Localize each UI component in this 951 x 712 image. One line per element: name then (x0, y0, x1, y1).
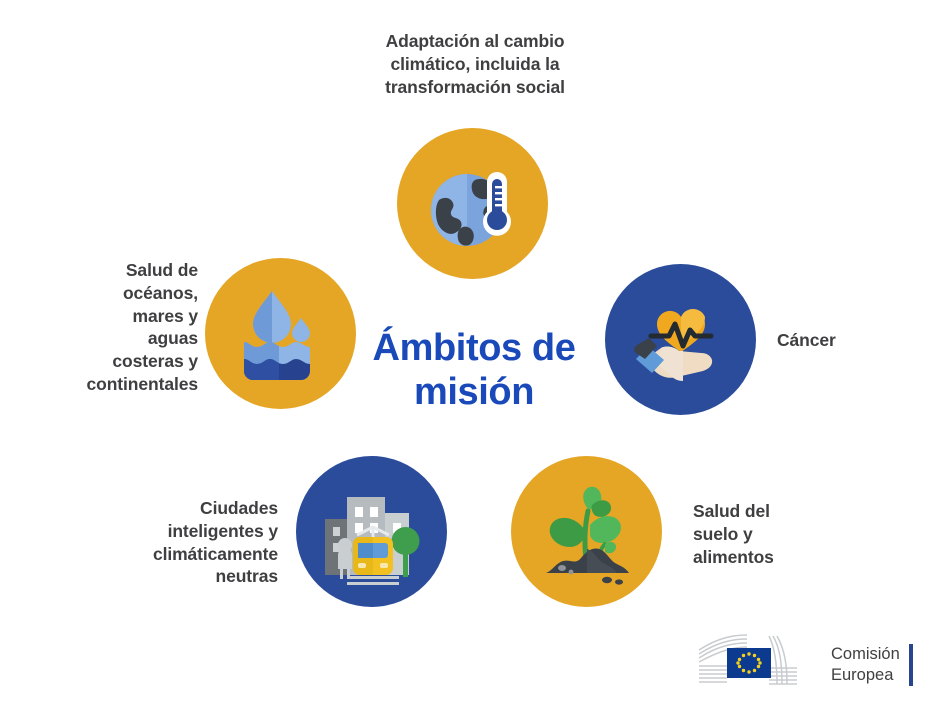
european-commission-logo: Comisión Europea (697, 634, 913, 696)
label-line: transformación social (315, 76, 635, 99)
city-tram-icon (313, 473, 431, 591)
label-line: Salud del (693, 500, 883, 523)
label-line: inteligentes y (60, 520, 278, 543)
label-line: continentales (30, 373, 198, 396)
label-line: Ciudades (60, 497, 278, 520)
label-line: alimentos (693, 546, 883, 569)
mission-label-climate-adaptation: Adaptación al cambio climático, incluida… (315, 30, 635, 98)
page-title-line: Ámbitos de (358, 326, 590, 370)
mission-circle-climate-adaptation[interactable] (397, 128, 548, 279)
label-line: climáticamente (60, 543, 278, 566)
eu-flag-swoosh-icon (697, 634, 822, 696)
infographic-canvas: Adaptación al cambio climático, incluida… (0, 0, 951, 712)
mission-circle-smart-cities[interactable] (296, 456, 447, 607)
label-line: Cáncer (777, 329, 927, 352)
label-line: Salud de (30, 259, 198, 282)
eu-logo-line: Comisión (831, 644, 900, 665)
globe-thermometer-icon (417, 148, 529, 260)
hand-heart-icon (625, 284, 737, 396)
water-drop-icon (225, 278, 337, 390)
page-title: Ámbitos de misión (358, 326, 590, 415)
page-title-line: misión (358, 370, 590, 414)
eu-logo-divider-bar (909, 644, 913, 686)
mission-label-smart-cities: Ciudades inteligentes y climáticamente n… (60, 497, 278, 588)
seedling-soil-icon (528, 473, 646, 591)
label-line: Adaptación al cambio (315, 30, 635, 53)
label-line: climático, incluida la (315, 53, 635, 76)
eu-logo-text: Comisión Europea (822, 644, 900, 686)
label-line: mares y (30, 305, 198, 328)
label-line: aguas (30, 327, 198, 350)
eu-logo-line: Europea (831, 665, 900, 686)
label-line: océanos, (30, 282, 198, 305)
mission-label-cancer: Cáncer (777, 329, 927, 352)
label-line: costeras y (30, 350, 198, 373)
mission-label-ocean-health: Salud de océanos, mares y aguas costeras… (30, 259, 198, 396)
mission-circle-ocean-health[interactable] (205, 258, 356, 409)
mission-circle-cancer[interactable] (605, 264, 756, 415)
label-line: neutras (60, 565, 278, 588)
mission-label-soil-health: Salud del suelo y alimentos (693, 500, 883, 568)
label-line: suelo y (693, 523, 883, 546)
mission-circle-soil-health[interactable] (511, 456, 662, 607)
